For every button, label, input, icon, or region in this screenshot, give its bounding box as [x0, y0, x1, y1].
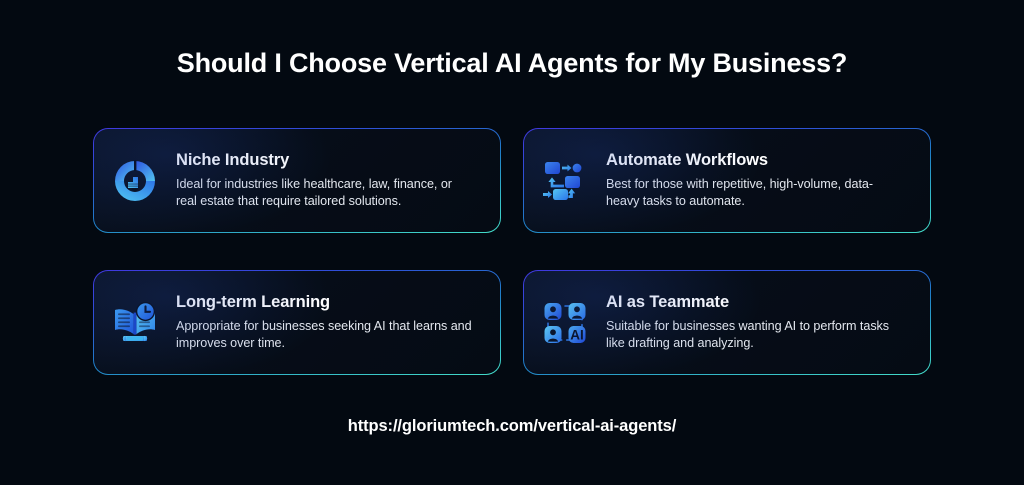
card-body: AI AI as Teammate Suitable for businesse…: [524, 271, 930, 374]
ai-badge-label: AI: [570, 327, 584, 342]
card-body: Long-term Learning Appropriate for busin…: [94, 271, 500, 374]
source-url[interactable]: https://gloriumtech.com/vertical-ai-agen…: [0, 417, 1024, 436]
card-body: Automate Workflows Best for those with r…: [524, 129, 930, 232]
card-automate-workflows[interactable]: Automate Workflows Best for those with r…: [523, 128, 931, 233]
card-title: Niche Industry: [176, 151, 484, 169]
card-text: Niche Industry Ideal for industries like…: [176, 151, 484, 209]
card-body: Niche Industry Ideal for industries like…: [94, 129, 500, 232]
card-text: Automate Workflows Best for those with r…: [606, 151, 914, 209]
book-clock-icon: [112, 300, 158, 346]
card-text: AI as Teammate Suitable for businesses w…: [606, 293, 914, 351]
card-description: Ideal for industries like healthcare, la…: [176, 176, 476, 209]
card-long-term-learning[interactable]: Long-term Learning Appropriate for busin…: [93, 270, 501, 375]
card-title: Long-term Learning: [176, 293, 484, 311]
card-title: AI as Teammate: [606, 293, 914, 311]
card-text: Long-term Learning Appropriate for busin…: [176, 293, 484, 351]
card-niche-industry[interactable]: Niche Industry Ideal for industries like…: [93, 128, 501, 233]
donut-chart-building-icon: [112, 158, 158, 204]
card-description: Appropriate for businesses seeking AI th…: [176, 318, 476, 351]
card-title: Automate Workflows: [606, 151, 914, 169]
infographic-canvas: Should I Choose Vertical AI Agents for M…: [0, 0, 1024, 485]
workflow-automation-icon: [542, 158, 588, 204]
card-description: Suitable for businesses wanting AI to pe…: [606, 318, 906, 351]
card-grid: Niche Industry Ideal for industries like…: [93, 128, 931, 375]
page-title: Should I Choose Vertical AI Agents for M…: [0, 48, 1024, 79]
team-ai-avatars-icon: AI: [542, 300, 588, 346]
card-description: Best for those with repetitive, high-vol…: [606, 176, 906, 209]
card-ai-as-teammate[interactable]: AI AI as Teammate Suitable for businesse…: [523, 270, 931, 375]
